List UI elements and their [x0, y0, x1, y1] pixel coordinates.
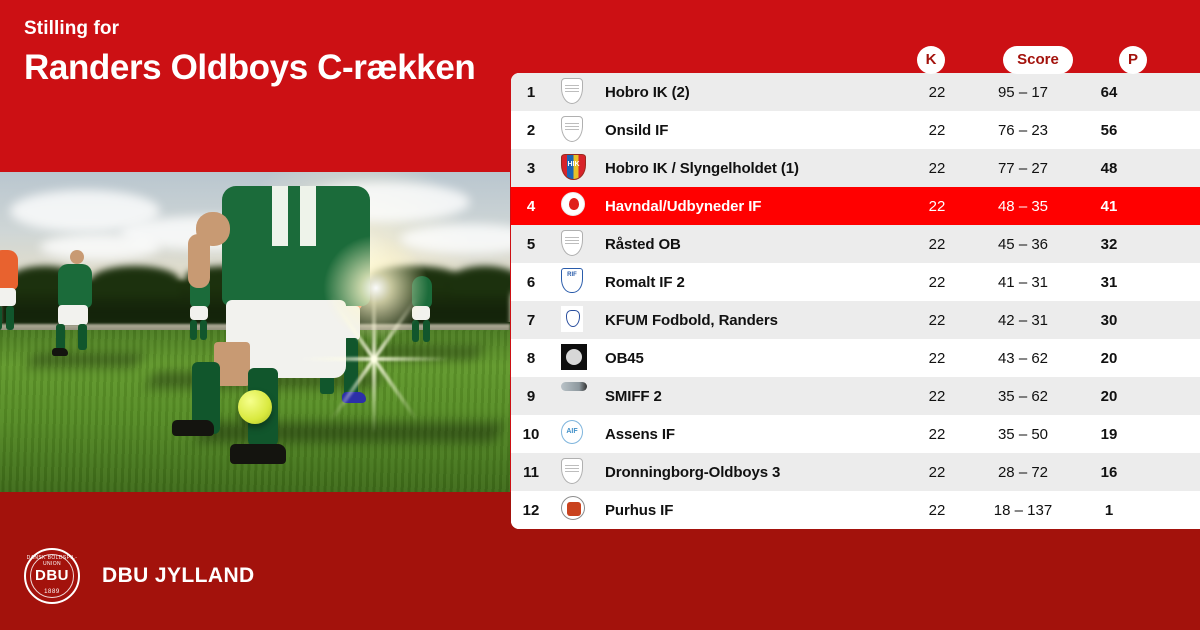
- row-team-name: Onsild IF: [597, 122, 906, 139]
- row-matches: 22: [906, 464, 968, 481]
- row-team-name: SMIFF 2: [597, 388, 906, 405]
- row-matches: 22: [906, 274, 968, 291]
- table-row[interactable]: 9SMIFF 22235 – 6220: [511, 377, 1200, 415]
- photo-cloud: [40, 234, 160, 260]
- table-row[interactable]: 10Assens IF2235 – 5019: [511, 415, 1200, 453]
- row-position: 3: [511, 160, 551, 177]
- row-points: 32: [1078, 236, 1140, 253]
- row-score: 42 – 31: [968, 312, 1078, 329]
- row-score: 45 – 36: [968, 236, 1078, 253]
- standings-table: 1Hobro IK (2)2295 – 17642Onsild IF2276 –…: [511, 73, 1200, 529]
- row-points: 19: [1078, 426, 1140, 443]
- row-team-name: Havndal/Udbyneder IF: [597, 198, 906, 215]
- row-matches: 22: [906, 312, 968, 329]
- table-row[interactable]: 7KFUM Fodbold, Randers2242 – 3130: [511, 301, 1200, 339]
- row-points: 16: [1078, 464, 1140, 481]
- row-matches: 22: [906, 350, 968, 367]
- club-crest-icon: [551, 192, 597, 220]
- row-matches: 22: [906, 160, 968, 177]
- row-score: 48 – 35: [968, 198, 1078, 215]
- row-matches: 22: [906, 198, 968, 215]
- page-title: Stilling for Randers Oldboys C-rækken: [24, 18, 475, 90]
- row-position: 12: [511, 502, 551, 519]
- row-points: 48: [1078, 160, 1140, 177]
- row-position: 5: [511, 236, 551, 253]
- hero-photo: [0, 172, 510, 492]
- row-score: 43 – 62: [968, 350, 1078, 367]
- club-crest-icon: [551, 78, 597, 106]
- row-team-name: OB45: [597, 350, 906, 367]
- dbu-seal-initials: DBU: [26, 567, 78, 584]
- row-team-name: Romalt IF 2: [597, 274, 906, 291]
- table-row[interactable]: 2Onsild IF2276 – 2356: [511, 111, 1200, 149]
- row-score: 41 – 31: [968, 274, 1078, 291]
- row-matches: 22: [906, 122, 968, 139]
- row-matches: 22: [906, 84, 968, 101]
- row-points: 56: [1078, 122, 1140, 139]
- row-position: 2: [511, 122, 551, 139]
- table-row[interactable]: 1Hobro IK (2)2295 – 1764: [511, 73, 1200, 111]
- table-row[interactable]: 4Havndal/Udbyneder IF2248 – 3541: [511, 187, 1200, 225]
- table-row[interactable]: 8OB452243 – 6220: [511, 339, 1200, 377]
- dbu-seal-year: 1889: [26, 589, 78, 595]
- club-crest-icon: [551, 496, 597, 524]
- footer-label: DBU JYLLAND: [102, 564, 255, 588]
- footer-branding: DANSK BOLDSPIL-UNION DBU 1889 DBU JYLLAN…: [24, 548, 255, 604]
- row-team-name: Purhus IF: [597, 502, 906, 519]
- row-team-name: KFUM Fodbold, Randers: [597, 312, 906, 329]
- club-crest-icon: [551, 420, 597, 448]
- row-score: 18 – 137: [968, 502, 1078, 519]
- table-row[interactable]: 6Romalt IF 22241 – 3131: [511, 263, 1200, 301]
- title-kicker: Stilling for: [24, 18, 475, 41]
- row-score: 35 – 50: [968, 426, 1078, 443]
- photo-football: [238, 390, 272, 424]
- row-points: 41: [1078, 198, 1140, 215]
- club-crest-icon: [551, 344, 597, 372]
- dbu-seal-arc-text: DANSK BOLDSPIL-UNION: [26, 555, 78, 567]
- row-team-name: Råsted OB: [597, 236, 906, 253]
- photo-sun-flare: [316, 228, 436, 348]
- row-points: 1: [1078, 502, 1140, 519]
- row-team-name: Hobro IK / Slyngelholdet (1): [597, 160, 906, 177]
- row-score: 28 – 72: [968, 464, 1078, 481]
- row-team-name: Hobro IK (2): [597, 84, 906, 101]
- table-row[interactable]: 5Råsted OB2245 – 3632: [511, 225, 1200, 263]
- row-score: 77 – 27: [968, 160, 1078, 177]
- row-matches: 22: [906, 502, 968, 519]
- table-row[interactable]: 11Dronningborg-Oldboys 32228 – 7216: [511, 453, 1200, 491]
- row-team-name: Dronningborg-Oldboys 3: [597, 464, 906, 481]
- table-row[interactable]: 3Hobro IK / Slyngelholdet (1)2277 – 2748: [511, 149, 1200, 187]
- row-matches: 22: [906, 426, 968, 443]
- club-crest-icon: [551, 458, 597, 486]
- row-points: 64: [1078, 84, 1140, 101]
- row-position: 1: [511, 84, 551, 101]
- row-position: 8: [511, 350, 551, 367]
- column-header-k: K: [917, 46, 945, 74]
- club-crest-icon: [551, 268, 597, 296]
- row-score: 76 – 23: [968, 122, 1078, 139]
- row-points: 20: [1078, 350, 1140, 367]
- row-position: 9: [511, 388, 551, 405]
- club-crest-icon: [551, 230, 597, 258]
- column-header-p: P: [1119, 46, 1147, 74]
- row-position: 11: [511, 464, 551, 481]
- club-crest-icon: [551, 116, 597, 144]
- club-crest-icon: [551, 306, 597, 334]
- row-position: 10: [511, 426, 551, 443]
- row-score: 95 – 17: [968, 84, 1078, 101]
- table-row[interactable]: 12Purhus IF2218 – 1371: [511, 491, 1200, 529]
- row-position: 6: [511, 274, 551, 291]
- row-position: 4: [511, 198, 551, 215]
- row-points: 31: [1078, 274, 1140, 291]
- row-points: 20: [1078, 388, 1140, 405]
- row-points: 30: [1078, 312, 1140, 329]
- row-team-name: Assens IF: [597, 426, 906, 443]
- dbu-seal-icon: DANSK BOLDSPIL-UNION DBU 1889: [24, 548, 80, 604]
- row-matches: 22: [906, 388, 968, 405]
- row-position: 7: [511, 312, 551, 329]
- title-main: Randers Oldboys C-rækken: [24, 46, 475, 90]
- column-header-score: Score: [1003, 46, 1073, 74]
- club-crest-icon: [551, 154, 597, 182]
- row-matches: 22: [906, 236, 968, 253]
- row-score: 35 – 62: [968, 388, 1078, 405]
- club-crest-icon: [551, 382, 597, 410]
